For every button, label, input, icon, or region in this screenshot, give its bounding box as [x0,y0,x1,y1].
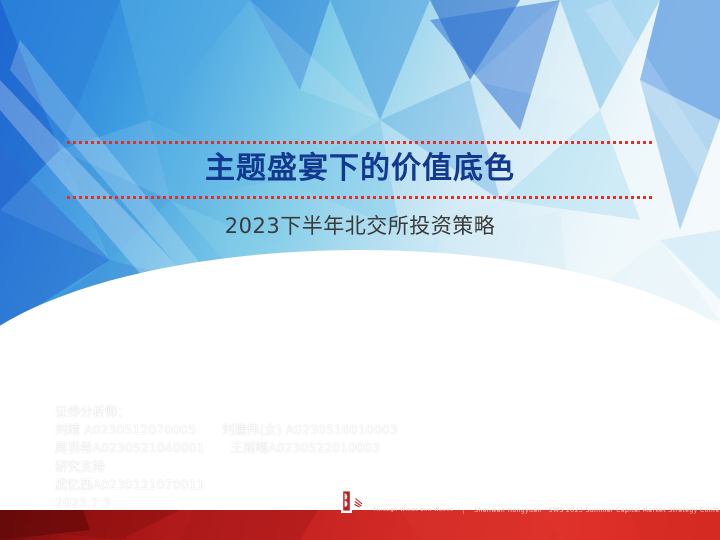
analyst-name-left: 刘靖 A0230512070005 [55,422,196,437]
logo-slogan-cn: 乘风破浪 [373,489,453,507]
logo-slogan: 乘风破浪 Through Winds and Waves [373,489,453,514]
analyst-name-right: 刘建伟(女) A0230518010003 [222,421,398,439]
analyst-row: 周羽希A0230521040001王雨晴A0230522010003 [55,439,398,457]
conference-title-cn: 申万宏源 · 2023资本市场夏季策略会 [474,487,720,506]
conference-logo-bar: 乘风破浪 Through Winds and Waves 申万宏源 · 2023… [340,483,720,519]
logo-slogan-en: Through Winds and Waves [373,507,453,513]
analyst-heading: 证券分析师： [55,403,398,421]
dotted-rule-bottom [67,196,655,199]
research-support-heading: 研究支持 [55,458,398,476]
dotted-rule-top [67,141,655,144]
analyst-row: 刘靖 A0230512070005刘建伟(女) A0230518010003 [55,421,398,439]
page-title: 主题盛宴下的价值底色 [0,150,720,188]
swhy-wave-hand-logo-icon [340,487,366,515]
conference-title: 申万宏源 · 2023资本市场夏季策略会 Shenwan Hongyuan · … [474,487,720,515]
analyst-name-left: 周羽希A0230521040001 [55,440,204,455]
conference-title-en: Shenwan Hongyuan · SWS 2023 Summer Capit… [474,506,720,515]
presentation-title-slide: 主题盛宴下的价值底色 2023下半年北交所投资策略 证券分析师： 刘靖 A023… [0,0,720,540]
logo-divider [463,488,464,514]
analyst-name-right: 王雨晴A0230522010003 [230,439,379,457]
page-subtitle: 2023下半年北交所投资策略 [0,211,720,241]
